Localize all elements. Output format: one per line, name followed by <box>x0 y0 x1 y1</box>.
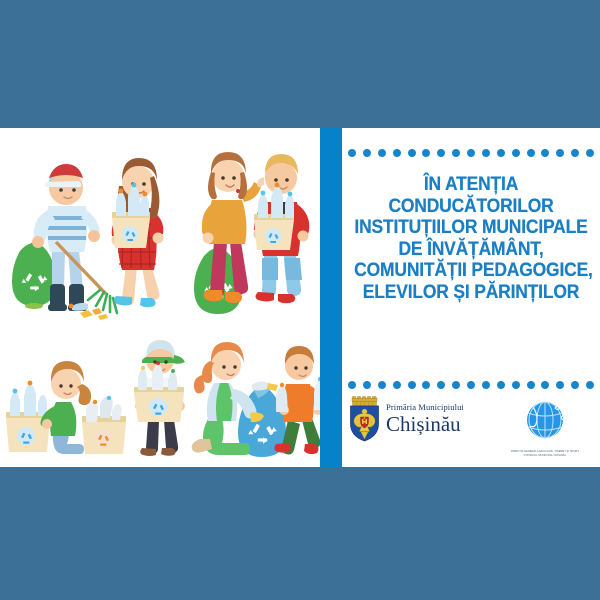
vertical-divider <box>320 128 342 467</box>
rule-dot <box>541 149 549 157</box>
girl-carrying-recycle-box <box>98 146 178 324</box>
rule-dot <box>363 149 371 157</box>
rule-dot <box>348 381 356 389</box>
primaria-line1: Primăria Municipiului <box>386 403 464 412</box>
dgets-globe-icon: D G E T S <box>520 394 570 444</box>
rule-dot <box>437 149 445 157</box>
rule-dot <box>452 149 460 157</box>
girl-kneeling-sorting <box>2 346 132 464</box>
rule-dot <box>437 381 445 389</box>
rule-dot <box>586 381 594 389</box>
content-band: ÎN ATENȚIA CONDUCĂTORILOR INSTITUȚIILOR … <box>0 128 600 467</box>
logo-primaria-chisinau: Primăria Municipiului Chișinău <box>348 396 464 442</box>
rule-dot <box>586 149 594 157</box>
rule-dot <box>527 381 535 389</box>
rule-dot <box>497 149 505 157</box>
headline-line-3: INSTITUȚIILOR MUNICIPALE <box>354 217 588 239</box>
boy-with-cap-holding-box <box>124 336 194 464</box>
rule-dot <box>467 381 475 389</box>
rule-dot <box>452 381 460 389</box>
boy-holding-recycle-box <box>240 146 320 324</box>
rule-dot <box>408 381 416 389</box>
rule-dot <box>497 381 505 389</box>
dotted-rule-top <box>348 148 594 157</box>
headline-line-6: ELEVILOR ȘI PĂRINȚILOR <box>354 282 588 304</box>
headline-line-1: ÎN ATENȚIA <box>354 174 588 196</box>
rule-dot <box>363 381 371 389</box>
rule-dot <box>348 149 356 157</box>
dotted-rule-bottom <box>348 380 594 389</box>
primaria-wordmark: Primăria Municipiului Chișinău <box>386 403 464 435</box>
rule-dot <box>393 381 401 389</box>
rule-dot <box>571 381 579 389</box>
illustration-row-bottom <box>0 324 320 464</box>
logo-dgets: D G E T S DIRECȚIA GENERALĂ EDUCAȚIE, TI… <box>505 394 585 457</box>
chisinau-coat-of-arms-icon <box>348 396 381 442</box>
rule-dot <box>512 149 520 157</box>
rule-dot <box>393 149 401 157</box>
rule-dot <box>512 381 520 389</box>
svg-text:E: E <box>560 424 569 430</box>
rule-dot <box>422 149 430 157</box>
logo-strip: Primăria Municipiului Chișinău <box>342 394 600 467</box>
rule-dot <box>467 149 475 157</box>
svg-text:S: S <box>551 437 561 444</box>
headline-line-2: CONDUCĂTORILOR <box>354 196 588 218</box>
rule-dot <box>482 381 490 389</box>
headline: ÎN ATENȚIA CONDUCĂTORILOR INSTITUȚIILOR … <box>354 174 588 303</box>
svg-text:T: T <box>557 431 567 439</box>
headline-line-4: DE ÎNVĂȚĂMÂNT, <box>354 239 588 261</box>
poster-canvas: ÎN ATENȚIA CONDUCĂTORILOR INSTITUȚIILOR … <box>0 0 600 600</box>
rule-dot <box>571 149 579 157</box>
rule-dot <box>378 381 386 389</box>
illustration-panel <box>0 128 320 467</box>
rule-dot <box>541 381 549 389</box>
illustration-row-top <box>0 134 320 324</box>
rule-dot <box>482 149 490 157</box>
rule-dot <box>408 149 416 157</box>
dgets-caption: DIRECȚIA GENERALĂ EDUCAȚIE, TINERET ȘI S… <box>505 450 585 457</box>
rule-dot <box>378 149 386 157</box>
rule-dot <box>556 149 564 157</box>
rule-dot <box>422 381 430 389</box>
primaria-line2: Chișinău <box>386 413 464 435</box>
rule-dot <box>527 149 535 157</box>
rule-dot <box>556 381 564 389</box>
headline-line-5: COMUNITĂȚII PEDAGOGICE, <box>354 260 588 282</box>
message-panel: ÎN ATENȚIA CONDUCĂTORILOR INSTITUȚIILOR … <box>342 128 600 467</box>
